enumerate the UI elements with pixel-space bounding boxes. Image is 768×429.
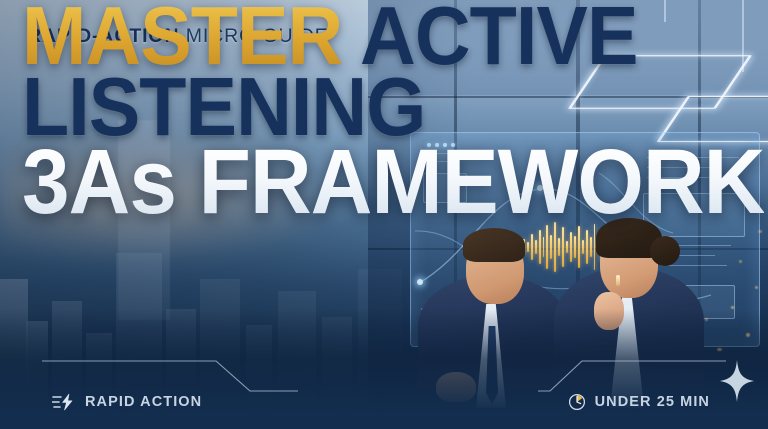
badge-rapid-action[interactable]: RAPID ACTION — [52, 393, 202, 411]
headline-line-3: 3As FRAMEWORK — [22, 143, 764, 222]
badge-rule-left — [40, 359, 300, 393]
badge-under-25-min[interactable]: UNDER 25 MIN — [568, 393, 710, 411]
lightning-bolt-speed-icon — [52, 393, 76, 411]
clock-icon — [568, 393, 586, 411]
headline-block: MASTER ACTIVE LISTENING 3As FRAMEWORK — [22, 0, 768, 222]
four-point-star-icon — [720, 360, 754, 407]
banner-root: RAPID-ACTION MICRO-GUIDE MASTER ACTIVE L… — [0, 0, 768, 429]
badge-left-label: RAPID ACTION — [85, 394, 202, 410]
badge-rule-right — [538, 359, 728, 393]
badge-right-label: UNDER 25 MIN — [595, 394, 710, 410]
text-content-layer: RAPID-ACTION MICRO-GUIDE MASTER ACTIVE L… — [0, 0, 768, 429]
